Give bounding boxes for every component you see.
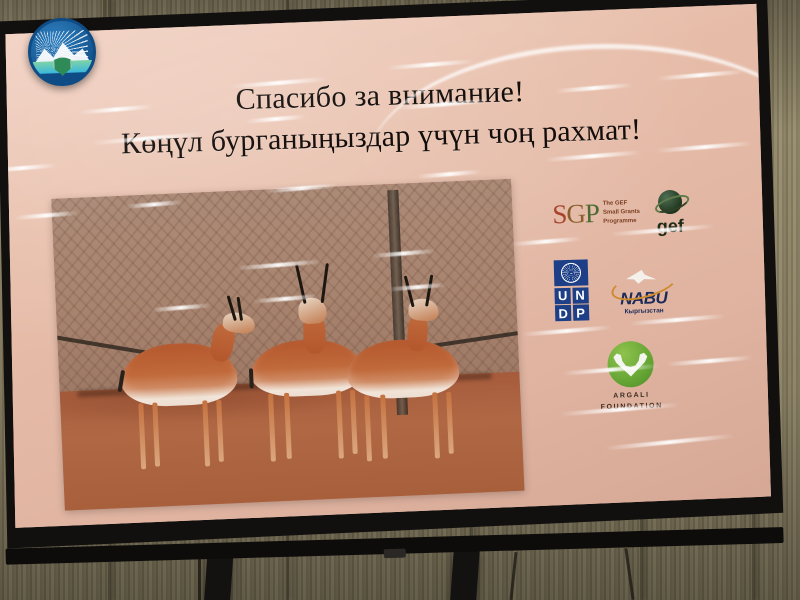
logo-argali-foundation: ARGALI FOUNDATION — [588, 340, 674, 413]
sgp-wordmark: SGP — [552, 198, 599, 230]
room-photo-scene: Спасибо за внимание! Көңүл бурганыңыздар… — [0, 0, 800, 600]
gazelle — [119, 318, 257, 474]
gef-wordmark: gef — [657, 217, 684, 236]
planet-with-ring-icon — [655, 188, 684, 217]
partner-logos: SGP The GEF Small Grants Programme — [552, 186, 748, 414]
argali-word-line2: FOUNDATION — [590, 401, 674, 414]
sgp-tagline-line3: Programme — [603, 217, 640, 227]
undp-letter-u: U — [554, 287, 570, 303]
undp-letter-n: N — [572, 287, 588, 303]
logo-row-sgp-gef: SGP The GEF Small Grants Programme — [552, 186, 743, 238]
sgp-letter-g: G — [566, 198, 585, 229]
logo-undp: U N D P — [554, 259, 590, 321]
sgp-tagline: The GEF Small Grants Programme — [603, 199, 641, 226]
nabu-subtitle: Кыргызстан — [607, 307, 681, 316]
undp-letter-p: P — [572, 304, 588, 320]
slide-title-block: Спасибо за внимание! Көңүл бурганыңыздар… — [0, 67, 766, 165]
sgp-letter-p: P — [584, 198, 599, 228]
argali-wordmark: ARGALI FOUNDATION — [589, 390, 674, 413]
argali-horns-icon — [607, 341, 654, 388]
logo-row-argali: ARGALI FOUNDATION — [556, 338, 748, 414]
gazelle-photo — [51, 179, 524, 511]
sgp-letter-s: S — [552, 199, 567, 229]
logo-nabu: NABU Кыргызстан — [606, 269, 681, 316]
undp-letter-d: D — [555, 305, 571, 321]
gazelle — [332, 299, 479, 465]
presentation-slide: Спасибо за внимание! Көңүл бурганыңыздар… — [0, 0, 777, 541]
display-screen: Спасибо за внимание! Көңүл бурганыңыздар… — [0, 0, 777, 541]
logo-sgp: SGP The GEF Small Grants Programme — [552, 197, 640, 230]
logo-row-undp-nabu: U N D P NABU — [554, 255, 746, 321]
white-stork-icon — [606, 269, 681, 291]
un-globe-emblem-icon — [554, 259, 589, 286]
logo-gef: gef — [655, 188, 684, 236]
display-logo — [384, 549, 406, 559]
wall-mounted-display: Спасибо за внимание! Көңүл бурганыңыздар… — [0, 0, 794, 571]
